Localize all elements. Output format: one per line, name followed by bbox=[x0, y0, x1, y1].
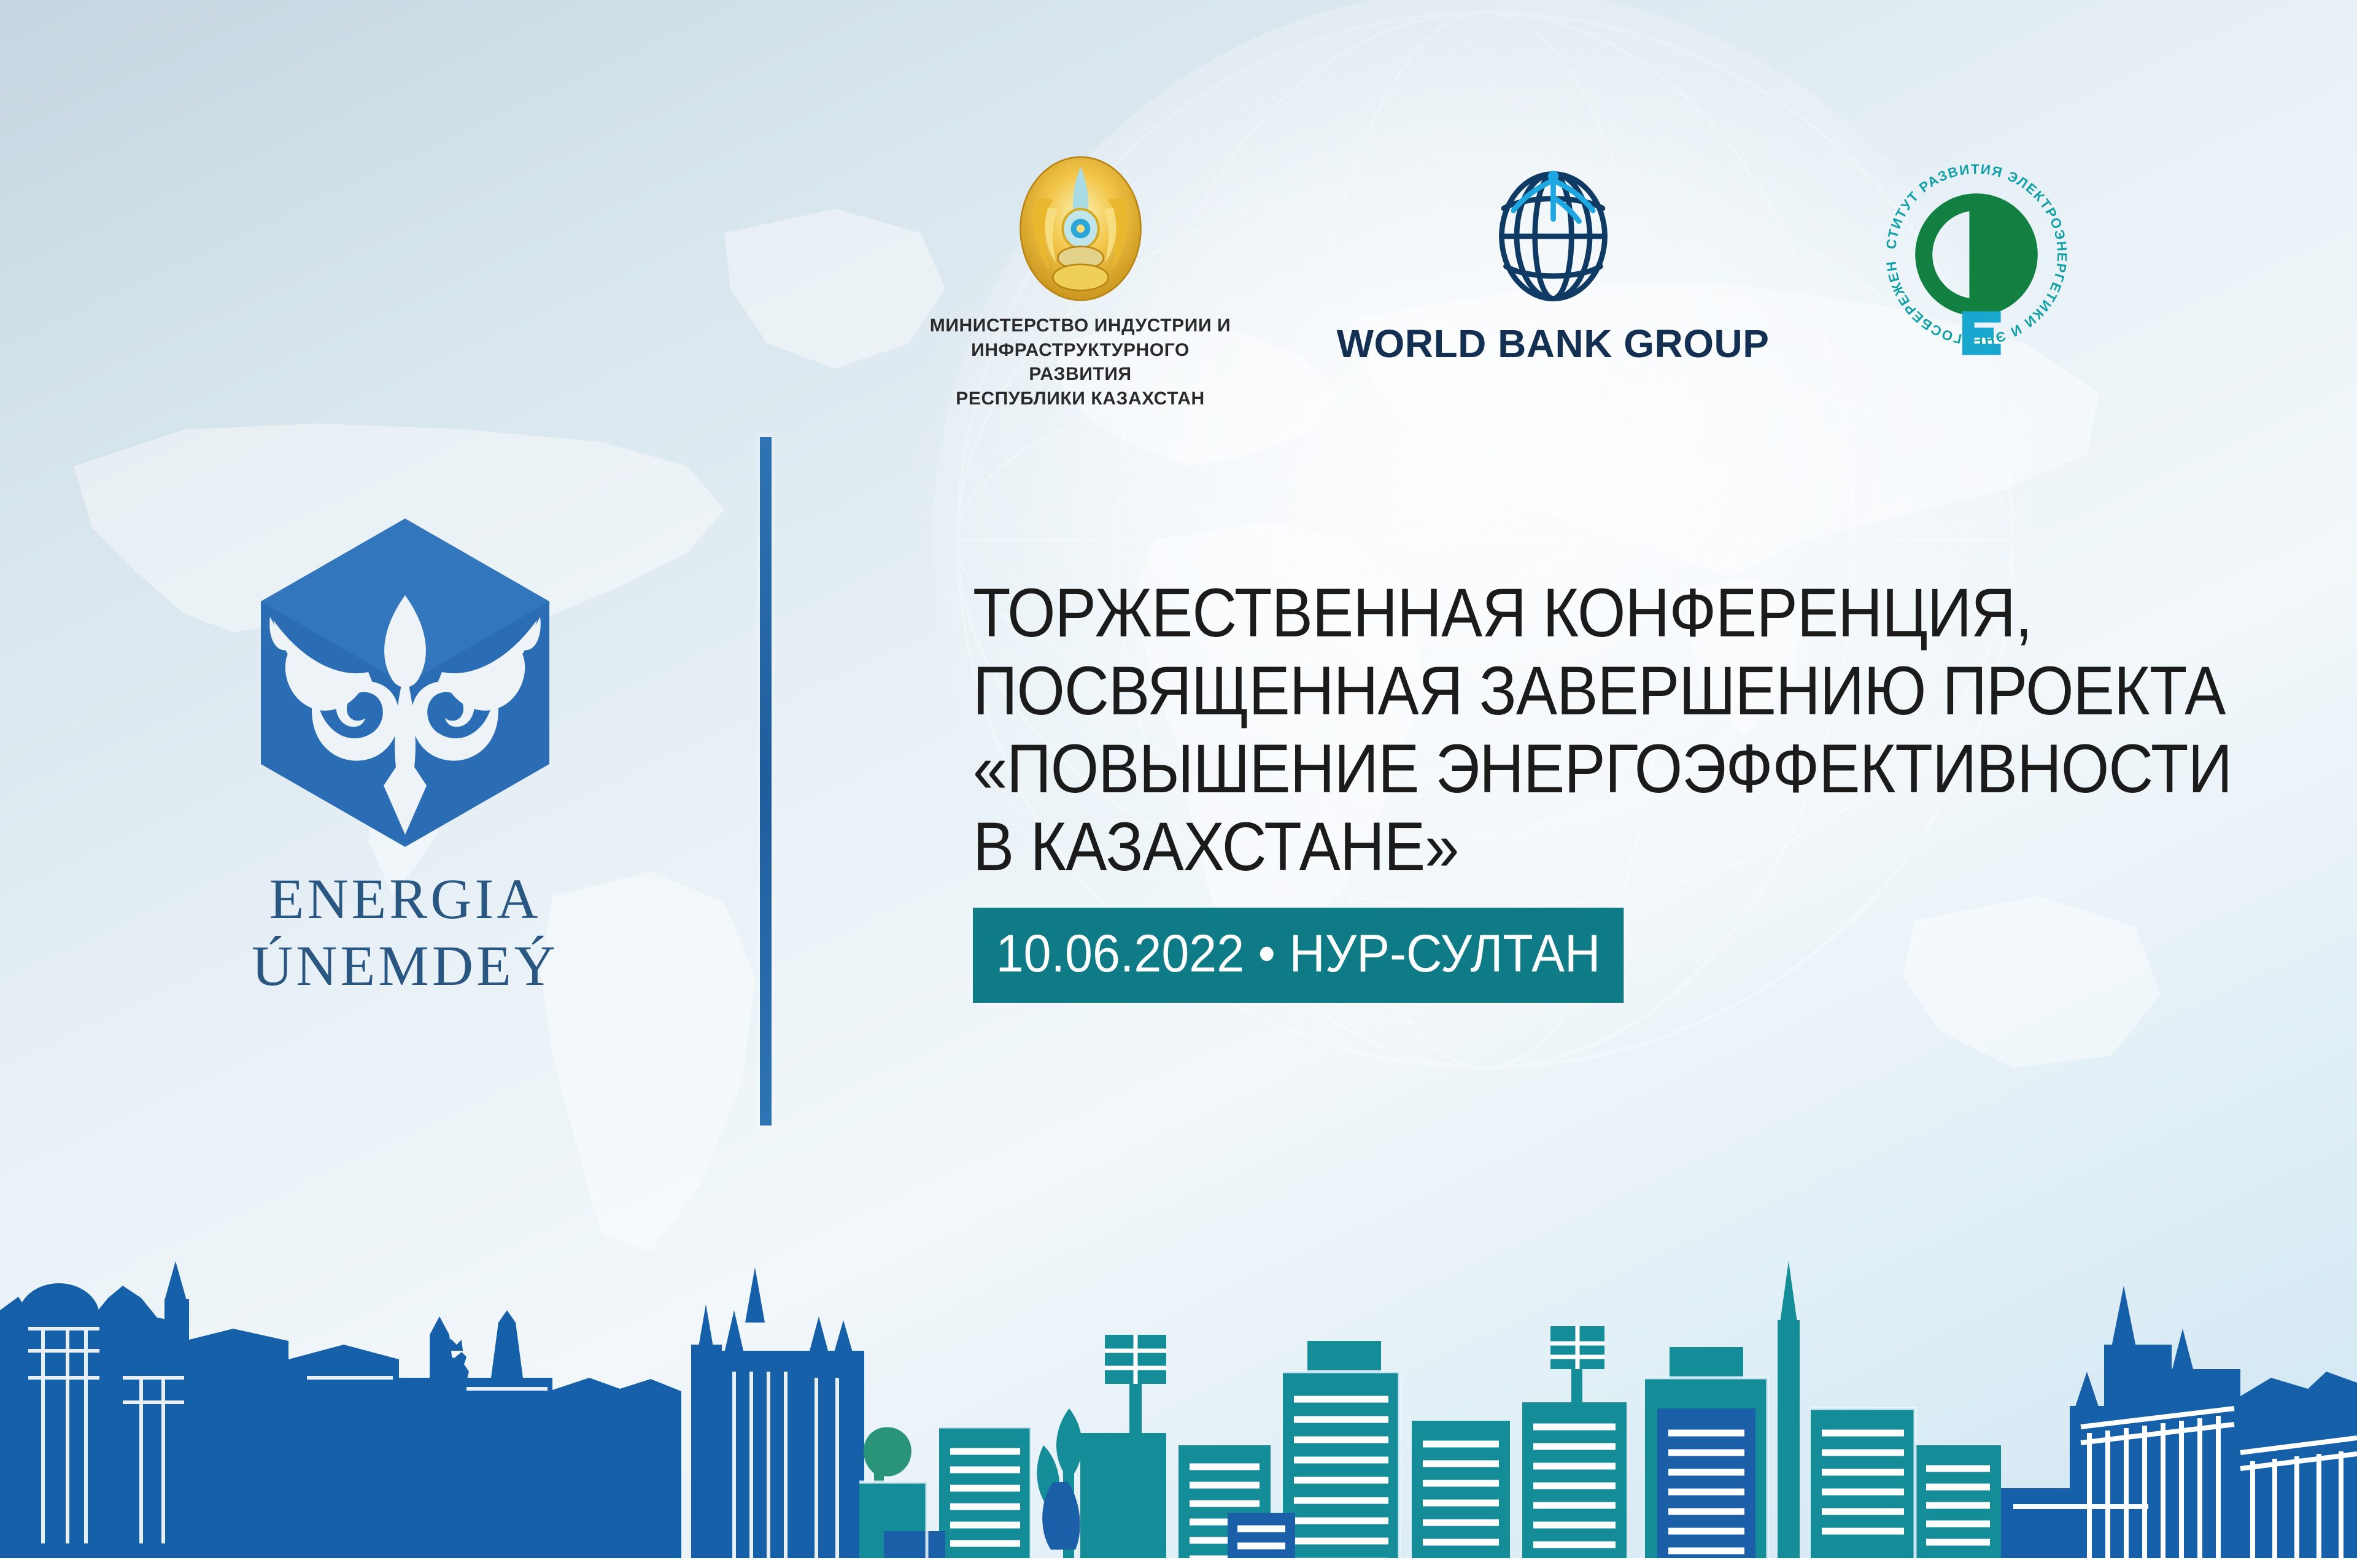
partner-logos-row: МИНИСТЕРСТВО ИНДУСТРИИ И ИНФРАСТРУКТУРНО… bbox=[921, 147, 2087, 411]
logo-world-bank-group: WORLD BANK GROUP bbox=[1338, 147, 1768, 366]
ministry-line-2: ИНФРАСТРУКТУРНОГО РАЗВИТИЯ bbox=[921, 338, 1240, 387]
title-line-1: ТОРЖЕСТВЕННАЯ КОНФЕРЕНЦИЯ, bbox=[973, 574, 2144, 652]
ministry-caption: МИНИСТЕРСТВО ИНДУСТРИИ И ИНФРАСТРУКТУРНО… bbox=[921, 314, 1240, 411]
conference-banner: МИНИСТЕРСТВО ИНДУСТРИИ И ИНФРАСТРУКТУРНО… bbox=[0, 0, 2357, 1568]
hexagon-cube-ornament-icon bbox=[252, 509, 559, 853]
date-location-badge: 10.06.2022 • НУР-СУЛТАН bbox=[973, 908, 1624, 1003]
logo-ministry: МИНИСТЕРСТВО ИНДУСТРИИ И ИНФРАСТРУКТУРНО… bbox=[921, 147, 1240, 411]
title-line-4: В КАЗАХСТАНЕ» bbox=[973, 808, 2144, 886]
title-line-3: «ПОВЫШЕНИЕ ЭНЕРГОЭФФЕКТИВНОСТИ bbox=[973, 730, 2144, 808]
title-block: ТОРЖЕСТВЕННАЯ КОНФЕРЕНЦИЯ, ПОСВЯЩЕННАЯ З… bbox=[973, 574, 2274, 1003]
brand-name-line-2: ÚNEMDEÝ bbox=[172, 933, 638, 1000]
logo-institute: ИНСТИТУТ РАЗВИТИЯ ЭЛЕКТРОЭНЕРГЕТИКИ И ЭН… bbox=[1866, 147, 2087, 356]
brand-lockup: ENERGIA ÚNEMDEÝ bbox=[172, 509, 638, 1000]
brand-wordmark: ENERGIA ÚNEMDEÝ bbox=[172, 867, 638, 1000]
skyline-illustration bbox=[0, 1224, 2357, 1568]
skyline-baseline bbox=[0, 1558, 2357, 1568]
ministry-line-1: МИНИСТЕРСТВО ИНДУСТРИИ И bbox=[921, 314, 1240, 338]
world-bank-globe-icon bbox=[1487, 155, 1619, 305]
institute-energy-seal-icon: ИНСТИТУТ РАЗВИТИЯ ЭЛЕКТРОЭНЕРГЕТИКИ И ЭН… bbox=[1875, 153, 2078, 356]
vertical-divider bbox=[760, 437, 772, 1126]
world-bank-group-label: WORLD BANK GROUP bbox=[1337, 321, 1770, 366]
city-skyline bbox=[0, 1224, 2357, 1568]
kazakhstan-state-emblem-icon bbox=[999, 147, 1162, 310]
title-line-2: ПОСВЯЩЕННАЯ ЗАВЕРШЕНИЮ ПРОЕКТА bbox=[973, 652, 2144, 730]
ministry-line-3: РЕСПУБЛИКИ КАЗАХСТАН bbox=[921, 387, 1240, 411]
brand-name-line-1: ENERGIA bbox=[172, 867, 638, 933]
